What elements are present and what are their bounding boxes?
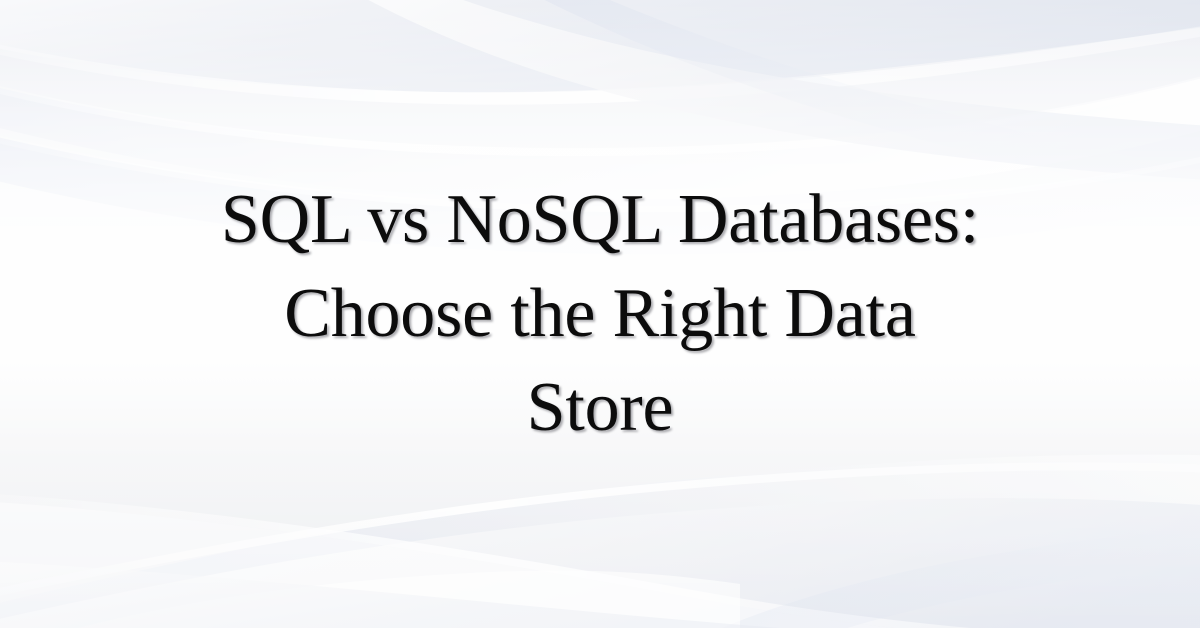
social-card: SQL vs NoSQL Databases:Choose the Right … <box>0 0 1200 628</box>
page-title: SQL vs NoSQL Databases:Choose the Right … <box>221 173 979 455</box>
title-block: SQL vs NoSQL Databases:Choose the Right … <box>0 0 1200 628</box>
page-title-line: Store <box>527 369 674 446</box>
page-title-line: Choose the Right Data <box>284 275 916 352</box>
page-title-line: SQL vs NoSQL Databases: <box>221 181 979 258</box>
